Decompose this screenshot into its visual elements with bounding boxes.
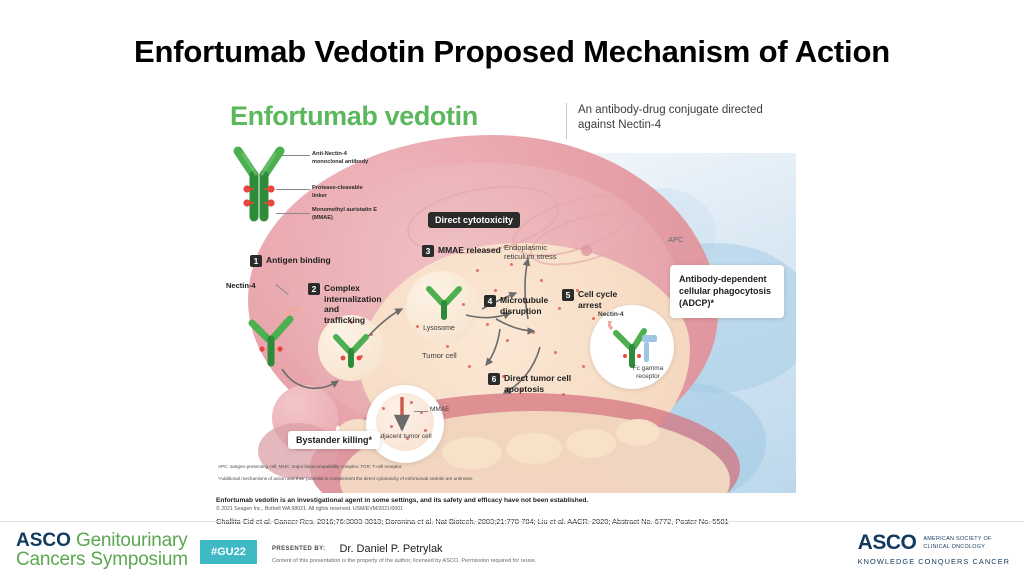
direct-cytotoxicity-badge: Direct cytotoxicity <box>428 212 520 228</box>
footer-divider <box>0 521 1024 522</box>
step-6: 6Direct tumor cell apoptosis <box>488 373 576 394</box>
step-number: 4 <box>484 295 496 307</box>
presenter-block: PRESENTED BY:Dr. Daniel P. Petrylak <box>272 540 443 558</box>
asco-logo-wordmark: ASCO <box>858 532 917 553</box>
step-3: 3MMAE released <box>422 245 501 257</box>
asco-gu-logo: ASCO Genitourinary Cancers Symposium <box>16 530 188 571</box>
figure-abbreviations: APC: antigen-presenting cell; MHC: major… <box>218 464 738 471</box>
step-label: Complex internalization and trafficking <box>324 283 380 326</box>
adcp-box: Antibody-dependent cellular phagocytosis… <box>670 265 784 318</box>
asco-society-logo: ASCO AMERICAN SOCIETY OF CLINICAL ONCOLO… <box>858 532 1010 566</box>
lysosome-antibody <box>424 285 464 321</box>
step-label: Microtubule disruption <box>500 295 552 316</box>
asco-wordmark: ASCO <box>16 530 71 551</box>
source-block: Enfortumab vedotin is an investigational… <box>216 496 856 527</box>
nectin4-label-left: Nectin-4 <box>226 281 256 290</box>
adjacent-tumor-cell-label: Adjacent tumor cell <box>376 433 432 441</box>
asco-tagline: KNOWLEDGE CONQUERS CANCER <box>858 557 1010 566</box>
asco-society-line1: AMERICAN SOCIETY OF <box>923 536 991 543</box>
mmae-label: MMAE <box>430 406 450 414</box>
step-label: Antigen binding <box>266 255 331 266</box>
step-4: 4Microtubule disruption <box>484 295 552 316</box>
investigational-note: Enfortumab vedotin is an investigational… <box>216 496 856 506</box>
asco-gu-line1: Genitourinary <box>71 530 188 551</box>
copyright-note: © 2021 Seagen Inc., Bothell WA 98021. Al… <box>216 506 856 514</box>
step-label: MMAE released <box>438 245 501 256</box>
step-5: 5Cell cycle arrest <box>562 289 622 310</box>
tumor-cell-label: Tumor cell <box>422 351 457 360</box>
step-1: 1Antigen binding <box>250 255 331 267</box>
internalized-antibody <box>330 331 372 371</box>
hashtag-badge: #GU22 <box>200 540 257 564</box>
apc-label: APC <box>668 235 683 244</box>
step-label: Cell cycle arrest <box>578 289 622 310</box>
er-stress-label: Endoplasmic reticulum stress <box>504 243 566 262</box>
step-number: 3 <box>422 245 434 257</box>
figure-asterisk-footnote: *Additional mechanisms of action and the… <box>218 476 778 483</box>
step-number: 1 <box>250 255 262 267</box>
lysosome-label: Lysosome <box>414 325 464 334</box>
permission-note: Content of this presentation is the prop… <box>272 558 536 564</box>
nectin4-label-right: Nectin-4 <box>598 311 624 319</box>
step-number: 5 <box>562 289 574 301</box>
mechanism-of-action-figure: Anti-Nectin-4 monoclonal antibody Protea… <box>210 93 796 493</box>
page-title: Enfortumab Vedotin Proposed Mechanism of… <box>0 34 1024 70</box>
step-label: Direct tumor cell apoptosis <box>504 373 576 394</box>
bystander-killing-badge: Bystander killing* <box>288 431 380 449</box>
step-number: 6 <box>488 373 500 385</box>
presented-by-label: PRESENTED BY: <box>272 546 325 552</box>
asco-gu-line2: Cancers Symposium <box>16 549 188 571</box>
step-number: 2 <box>308 283 320 295</box>
asco-society-line2: CLINICAL ONCOLOGY <box>923 544 991 551</box>
fc-gamma-receptor-label: Fc gamma receptor <box>624 365 672 381</box>
step-2: 2Complex internalization and trafficking <box>308 283 380 326</box>
surface-bound-antibody <box>246 305 302 369</box>
fc-receptor-antibody <box>608 321 662 371</box>
presenter-name: Dr. Daniel P. Petrylak <box>339 543 442 555</box>
